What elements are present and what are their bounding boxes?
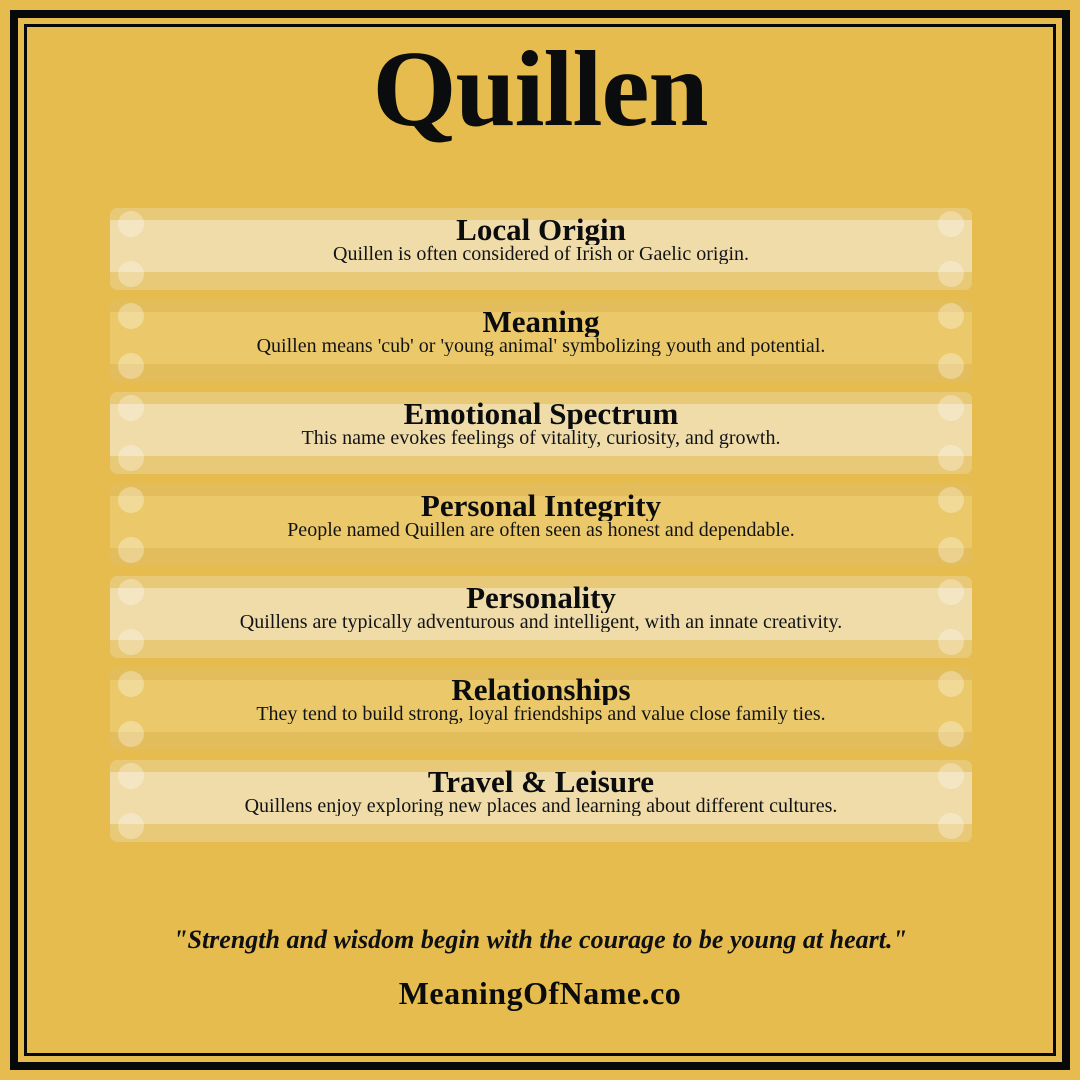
card-heading: Relationships: [130, 674, 952, 705]
card-heading: Emotional Spectrum: [130, 398, 952, 429]
card-heading: Personal Integrity: [130, 490, 952, 521]
card-heading: Personality: [130, 582, 952, 613]
poster-content: Quillen Local Origin Quillen is often co…: [27, 27, 1053, 1053]
section-card: Meaning Quillen means 'cub' or 'young an…: [110, 300, 972, 382]
card-description: Quillens enjoy exploring new places and …: [130, 796, 952, 816]
footer-brand: MeaningOfName.co: [27, 975, 1053, 1012]
card-description: People named Quillen are often seen as h…: [130, 520, 952, 540]
card-text: Emotional Spectrum This name evokes feel…: [130, 392, 952, 474]
section-card: Local Origin Quillen is often considered…: [110, 208, 972, 290]
section-card: Relationships They tend to build strong,…: [110, 668, 972, 750]
card-description: Quillen means 'cub' or 'young animal' sy…: [130, 336, 952, 356]
section-card: Emotional Spectrum This name evokes feel…: [110, 392, 972, 474]
card-text: Relationships They tend to build strong,…: [130, 668, 952, 750]
card-text: Meaning Quillen means 'cub' or 'young an…: [130, 300, 952, 382]
card-description: They tend to build strong, loyal friends…: [130, 704, 952, 724]
section-card-list: Local Origin Quillen is often considered…: [110, 208, 972, 852]
card-description: This name evokes feelings of vitality, c…: [130, 428, 952, 448]
card-text: Travel & Leisure Quillens enjoy explorin…: [130, 760, 952, 842]
name-meaning-poster: Quillen Local Origin Quillen is often co…: [0, 0, 1080, 1080]
card-heading: Meaning: [130, 306, 952, 337]
card-text: Personality Quillens are typically adven…: [130, 576, 952, 658]
section-card: Personality Quillens are typically adven…: [110, 576, 972, 658]
page-title: Quillen: [27, 35, 1053, 145]
card-text: Personal Integrity People named Quillen …: [130, 484, 952, 566]
section-card: Travel & Leisure Quillens enjoy explorin…: [110, 760, 972, 842]
card-description: Quillen is often considered of Irish or …: [130, 244, 952, 264]
card-heading: Travel & Leisure: [130, 766, 952, 797]
section-card: Personal Integrity People named Quillen …: [110, 484, 972, 566]
card-description: Quillens are typically adventurous and i…: [130, 612, 952, 632]
card-heading: Local Origin: [130, 214, 952, 245]
card-text: Local Origin Quillen is often considered…: [130, 208, 952, 290]
footer-quote: "Strength and wisdom begin with the cour…: [27, 925, 1053, 955]
